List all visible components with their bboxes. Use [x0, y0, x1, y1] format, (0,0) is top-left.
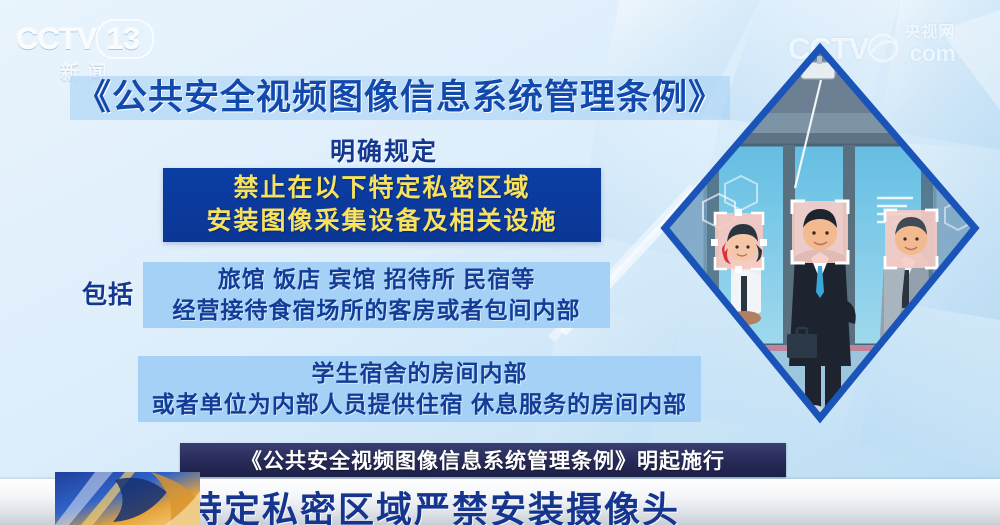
list-item-2: 学生宿舍的房间内部 或者单位为内部人员提供住宿 休息服务的房间内部 [138, 356, 701, 422]
lower-third-headline: 特定私密区域严禁安装摄像头 [186, 481, 680, 525]
prohibition-line-1: 禁止在以下特定私密区域 [233, 172, 530, 205]
lower-third-topic-bar: 《公共安全视频图像信息系统管理条例》明起施行 [180, 443, 786, 477]
broadcast-frame: CCTV13 新闻 CCTV 央视网 com 《公共安全视频图像信息系统管理条例… [0, 0, 1000, 525]
headline-group: 《公共安全视频图像信息系统管理条例》 [70, 76, 730, 120]
lower-third-topic: 《公共安全视频图像信息系统管理条例》明起施行 [241, 445, 725, 475]
channel-logo-number: 13 [96, 22, 144, 56]
list-prefix-label: 包括 [82, 275, 134, 311]
list-item-1: 旅馆 饭店 宾馆 招待所 民宿等 经营接待食宿场所的客房或者包间内部 [143, 262, 610, 328]
lower-third-decoration [55, 472, 200, 525]
page-title: 《公共安全视频图像信息系统管理条例》 [76, 78, 724, 117]
headline-subtitle: 明确规定 [330, 132, 438, 168]
prohibition-box: 禁止在以下特定私密区域 安装图像采集设备及相关设施 [163, 168, 601, 242]
person-woman [711, 209, 767, 325]
headline-band: 《公共安全视频图像信息系统管理条例》 [70, 76, 730, 120]
list-item-1-line-1: 旅馆 饭店 宾馆 招待所 民宿等 [218, 264, 536, 295]
list-item-1-line-2: 经营接待食宿场所的客房或者包间内部 [173, 295, 581, 326]
list-item-2-line-1: 学生宿舍的房间内部 [312, 358, 528, 389]
illustration-diamond [645, 18, 995, 448]
prohibition-line-2: 安装图像采集设备及相关设施 [206, 205, 557, 238]
illustration-content [645, 18, 995, 448]
channel-logo-main: CCTV13 [16, 22, 176, 56]
channel-logo-text: CCTV [16, 21, 96, 56]
list-item-2-line-2: 或者单位为内部人员提供住宿 休息服务的房间内部 [152, 389, 687, 420]
surveillance-illustration [645, 18, 995, 448]
